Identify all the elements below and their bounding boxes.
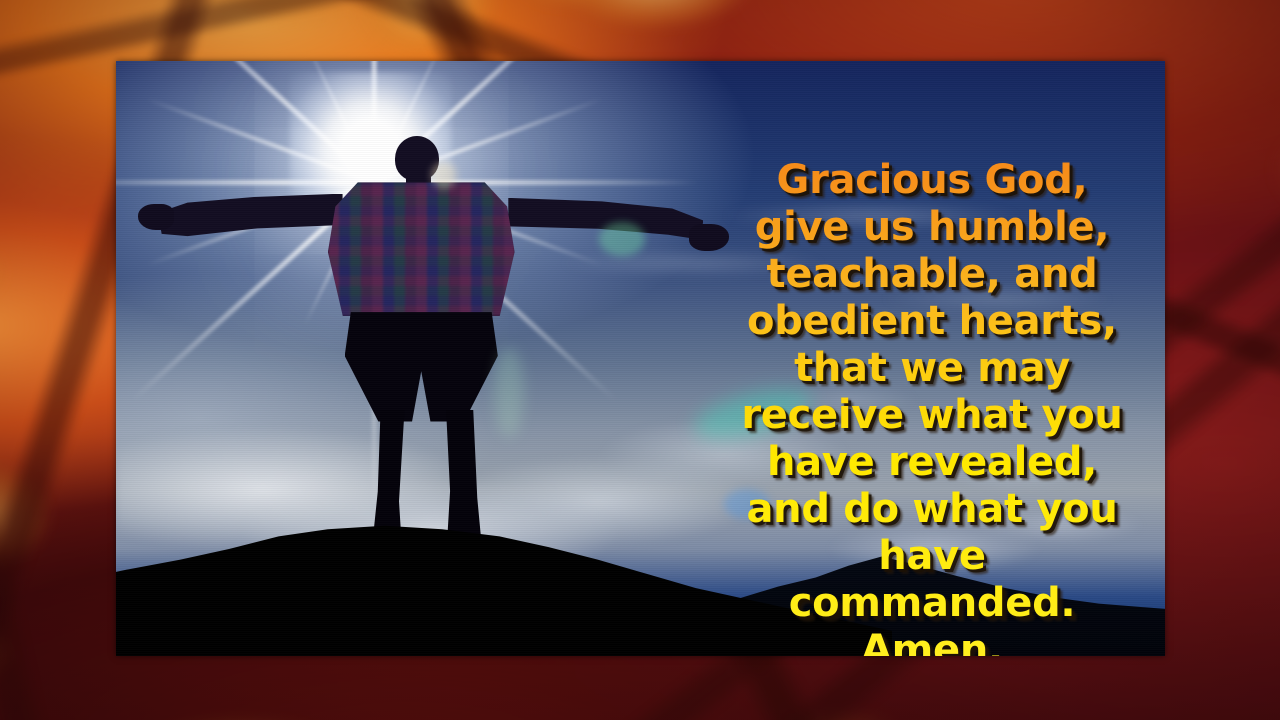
figure-plaid-shirt xyxy=(328,182,515,316)
figure-right-arm xyxy=(508,198,703,258)
inset-photo: Gracious God, give us humble, teachable,… xyxy=(116,61,1165,656)
slide-canvas: Gracious God, give us humble, teachable,… xyxy=(0,0,1280,720)
figure-left-hand xyxy=(138,204,174,230)
figure-shorts xyxy=(345,312,498,421)
figure-left-arm xyxy=(158,194,343,250)
figure-right-hand xyxy=(689,224,729,251)
